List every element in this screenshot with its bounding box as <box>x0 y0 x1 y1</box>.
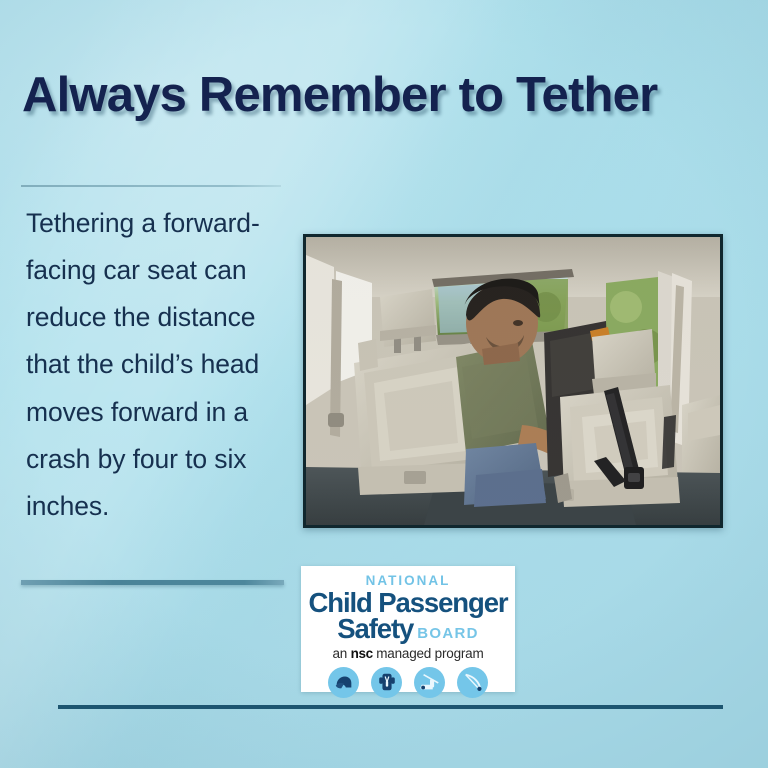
photo-image <box>306 237 720 525</box>
divider-bottom <box>58 705 723 709</box>
logo-safety-board-line: SafetyBOARD <box>307 615 509 643</box>
rear-facing-infant-seat-icon <box>328 667 359 698</box>
cpsb-logo: NATIONAL Child Passenger SafetyBOARD an … <box>301 566 515 692</box>
logo-tagline-prefix: an <box>332 646 350 661</box>
poster-canvas: Always Remember to Tether Tethering a fo… <box>0 0 768 768</box>
divider-top <box>21 185 281 187</box>
logo-nsc-brand: nsc <box>351 646 373 661</box>
seat-belt-icon <box>457 667 488 698</box>
booster-seat-icon <box>414 667 445 698</box>
logo-tagline: an nsc managed program <box>307 647 509 661</box>
page-title: Always Remember to Tether <box>22 71 752 120</box>
body-paragraph: Tethering a forward-facing car seat can … <box>26 200 278 530</box>
divider-middle <box>21 580 284 585</box>
logo-icon-row <box>307 667 509 698</box>
photo-car-seat-tethering <box>303 234 723 528</box>
logo-safety-text: Safety <box>337 613 413 644</box>
logo-tagline-suffix: managed program <box>373 646 484 661</box>
logo-national-text: NATIONAL <box>307 574 509 588</box>
forward-facing-harness-seat-icon <box>371 667 402 698</box>
logo-board-text: BOARD <box>417 625 479 642</box>
